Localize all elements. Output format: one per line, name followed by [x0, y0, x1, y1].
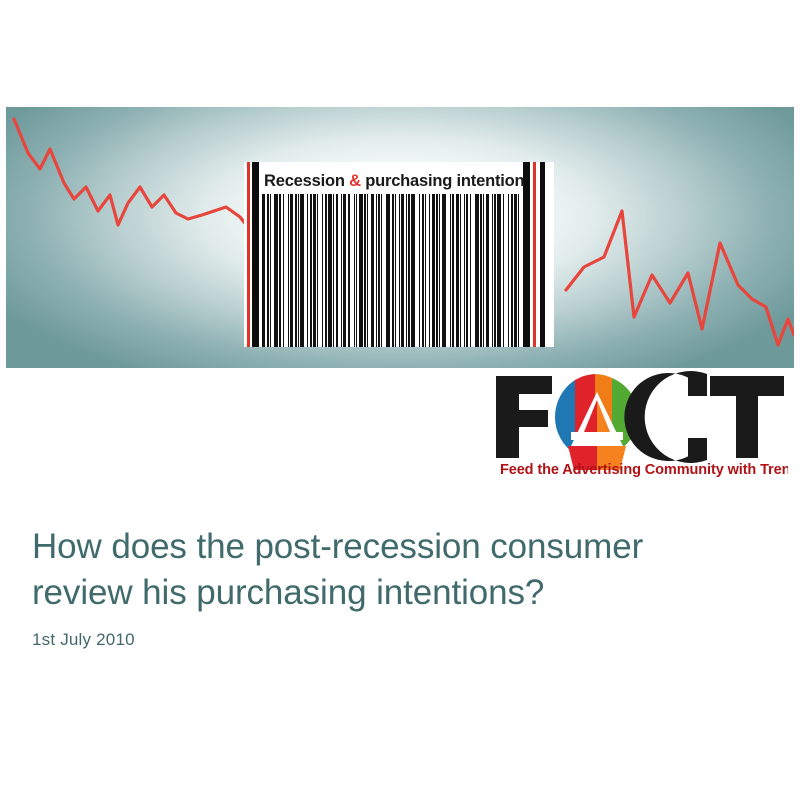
barcode-bar — [290, 194, 293, 347]
barcode-bar — [378, 194, 380, 347]
logo-letter-c — [624, 371, 707, 463]
barcode-bar — [288, 194, 289, 347]
barcode-bar — [399, 194, 400, 347]
logo-letter-f — [496, 376, 552, 458]
logo-letter-t — [710, 376, 784, 458]
barcode-bar — [401, 194, 404, 347]
barcode-bar — [336, 194, 338, 347]
barcode-bar — [475, 194, 479, 347]
barcode-bar — [341, 194, 342, 347]
barcode-bar — [328, 194, 332, 347]
barcode-title-prefix: Recession — [264, 172, 349, 190]
barcode-bar — [436, 194, 438, 347]
barcode-graphic: Recession & purchasing intention — [244, 162, 554, 347]
barcode-guard-black-far-right — [540, 162, 545, 347]
barcode-bar — [359, 194, 363, 347]
barcode-bar — [325, 194, 327, 347]
trend-line-right — [566, 211, 794, 345]
barcode-bar — [262, 194, 265, 347]
barcode-title-suffix: purchasing intention — [361, 172, 525, 190]
barcode-bar — [371, 194, 374, 347]
barcode-bar — [322, 194, 323, 347]
barcode-bar — [494, 194, 496, 347]
barcode-bar — [364, 194, 366, 347]
barcode-title-ampersand: & — [349, 172, 361, 190]
barcode-bar — [452, 194, 454, 347]
barcode-bars — [262, 194, 520, 347]
fact-logo-svg: Feed the Advertising Community with Tren… — [492, 370, 788, 478]
barcode-bar — [422, 194, 424, 347]
barcode-bar — [283, 194, 284, 347]
recession-banner-image: Recession & purchasing intention — [6, 107, 794, 368]
barcode-bar — [408, 194, 410, 347]
barcode-bar — [348, 194, 350, 347]
barcode-bar — [466, 194, 468, 347]
barcode-bar — [411, 194, 415, 347]
fact-logo: Feed the Advertising Community with Tren… — [492, 370, 788, 478]
barcode-bar — [456, 194, 459, 347]
barcode-bar — [470, 194, 471, 347]
barcode-bar — [313, 194, 316, 347]
barcode-bar — [486, 194, 489, 347]
barcode-guard-black-left — [252, 162, 259, 347]
barcode-bar — [333, 194, 334, 347]
barcode-bar — [450, 194, 451, 347]
barcode-bar — [406, 194, 407, 347]
barcode-bar — [274, 194, 278, 347]
barcode-bar — [381, 194, 382, 347]
barcode-bar — [419, 194, 420, 347]
barcode-bar — [298, 194, 299, 347]
barcode-title-text: Recession & purchasing intention — [264, 168, 536, 194]
a-crossbar-gap — [571, 432, 623, 440]
barcode-bar — [429, 194, 430, 347]
barcode-bar — [464, 194, 465, 347]
trend-line-left — [14, 119, 278, 235]
barcode-bar — [354, 194, 355, 347]
barcode-bar — [270, 194, 271, 347]
page-title: How does the post-recession consumer rev… — [32, 524, 752, 616]
barcode-bar — [480, 194, 482, 347]
barcode-bar — [460, 194, 461, 347]
barcode-bar — [511, 194, 513, 347]
barcode-bar — [425, 194, 426, 347]
barcode-bar — [514, 194, 517, 347]
slide-date: 1st July 2010 — [32, 629, 135, 651]
barcode-bar — [310, 194, 312, 347]
barcode-bar — [279, 194, 281, 347]
a-segment-blue — [555, 380, 575, 454]
barcode-bar — [295, 194, 297, 347]
barcode-bar — [267, 194, 269, 347]
barcode-bar — [317, 194, 318, 347]
barcode-bar — [386, 194, 390, 347]
barcode-bar — [518, 194, 519, 347]
barcode-bar — [508, 194, 509, 347]
barcode-bar — [376, 194, 377, 347]
barcode-bar — [307, 194, 308, 347]
barcode-bar — [392, 194, 394, 347]
logo-tagline: Feed the Advertising Community with Tren… — [500, 462, 788, 478]
barcode-bar — [343, 194, 346, 347]
barcode-bar — [503, 194, 504, 347]
barcode-bar — [442, 194, 446, 347]
barcode-bar — [492, 194, 493, 347]
barcode-bar — [439, 194, 440, 347]
barcode-bar — [432, 194, 435, 347]
barcode-bar — [367, 194, 368, 347]
barcode-bar — [395, 194, 396, 347]
barcode-bar — [356, 194, 357, 347]
presentation-title-slide: Recession & purchasing intention — [0, 0, 800, 800]
barcode-bar — [300, 194, 304, 347]
barcode-guard-red-left — [247, 162, 250, 347]
barcode-bar — [497, 194, 501, 347]
barcode-bar — [483, 194, 484, 347]
